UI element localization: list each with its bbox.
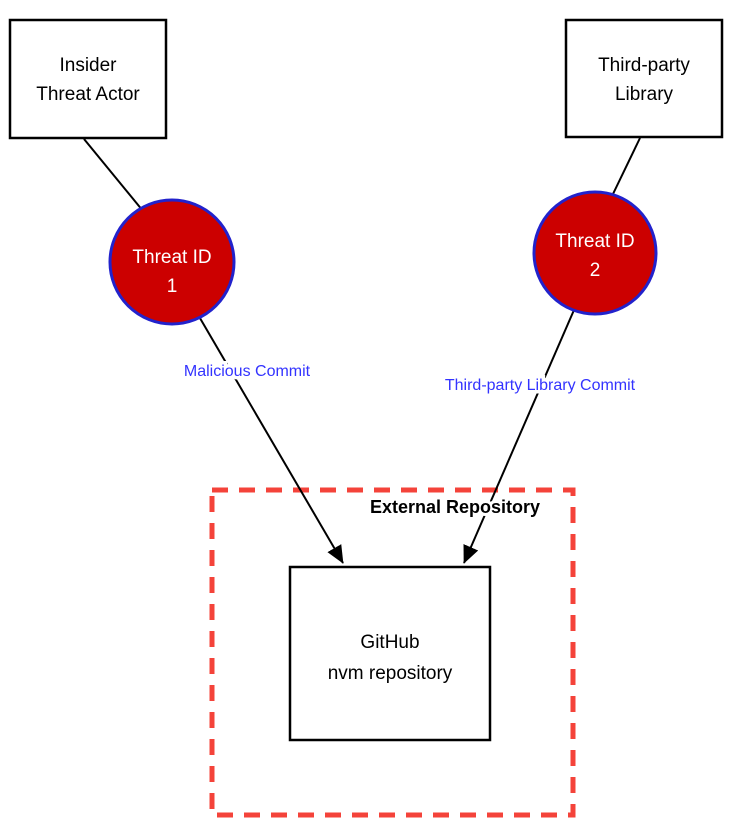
node-third-party-library-line-1: Third-party [598, 55, 690, 76]
node-threat-id-2[interactable]: Threat ID 2 [534, 192, 656, 314]
node-third-party-library-box[interactable] [566, 20, 722, 137]
diagram-canvas: External Repository Malicious Commit Thi… [0, 0, 733, 830]
edge-library-to-threat2 [613, 138, 640, 194]
node-threat-id-2-line-1: Threat ID [555, 231, 634, 252]
node-insider-threat-actor-box[interactable] [10, 20, 166, 138]
edge-label-malicious-commit: Malicious Commit [184, 363, 311, 380]
node-threat-id-2-line-2: 2 [590, 260, 601, 281]
edge-threat2-to-repo [464, 310, 574, 563]
node-threat-id-1-line-1: Threat ID [132, 247, 211, 268]
edge-label-third-party-library-commit: Third-party Library Commit [445, 377, 636, 394]
node-github-nvm-repository-line-1: GitHub [360, 632, 419, 653]
node-insider-threat-actor[interactable]: Insider Threat Actor [10, 20, 166, 138]
boundary-label: External Repository [370, 497, 540, 517]
node-third-party-library-line-2: Library [615, 84, 674, 105]
edge-labels-layer: Malicious Commit Third-party Library Com… [184, 363, 636, 394]
node-threat-id-1-line-2: 1 [167, 276, 178, 297]
node-github-nvm-repository-box[interactable] [290, 567, 490, 740]
node-github-nvm-repository[interactable]: GitHub nvm repository [290, 567, 490, 740]
edge-threat1-to-repo [197, 313, 343, 563]
boundary-label-group: External Repository [370, 497, 540, 517]
node-third-party-library[interactable]: Third-party Library [566, 20, 722, 137]
threat-model-diagram: External Repository Malicious Commit Thi… [0, 0, 733, 830]
node-insider-threat-actor-line-2: Threat Actor [36, 84, 140, 105]
node-insider-threat-actor-line-1: Insider [59, 55, 117, 76]
node-github-nvm-repository-line-2: nvm repository [328, 663, 453, 684]
node-threat-id-1[interactable]: Threat ID 1 [110, 200, 234, 324]
node-threat-id-2-circle[interactable] [534, 192, 656, 314]
edge-insider-to-threat1 [84, 139, 143, 211]
